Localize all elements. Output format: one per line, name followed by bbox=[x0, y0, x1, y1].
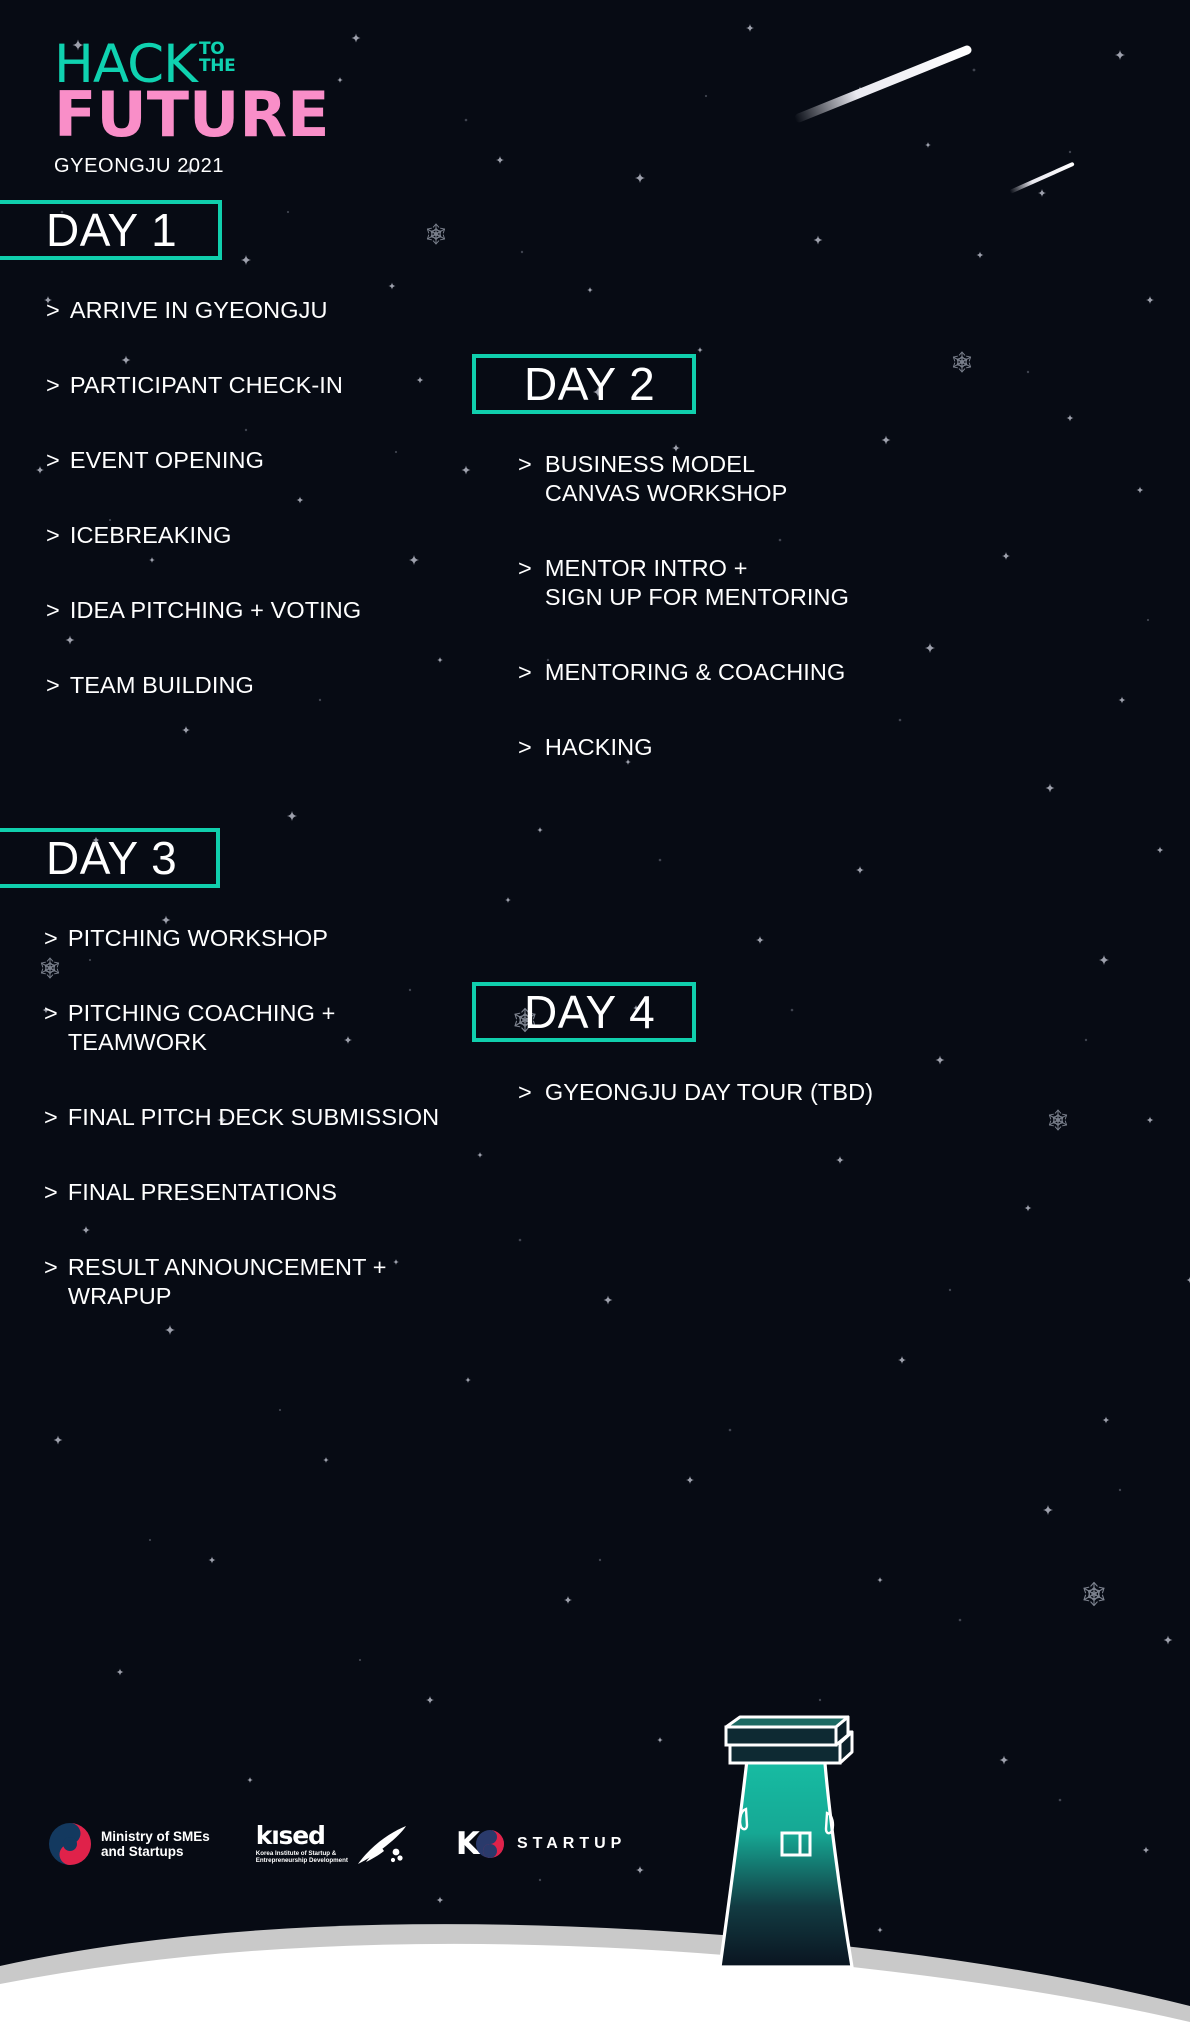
schedule-item-label: ICEBREAKING bbox=[70, 521, 232, 550]
schedule-item-label: IDEA PITCHING + VOTING bbox=[70, 596, 361, 625]
schedule-item-label: PITCHING COACHING + TEAMWORK bbox=[68, 999, 336, 1057]
schedule-item: >PITCHING WORKSHOP bbox=[44, 924, 474, 953]
snow-ground bbox=[0, 1914, 1190, 2044]
schedule-item: >HACKING bbox=[518, 733, 938, 762]
caret-icon: > bbox=[518, 554, 532, 612]
cheomseongdae-tower-illustration bbox=[700, 1715, 910, 2015]
kised-sub-line2: Entrepreneurship Development bbox=[256, 1857, 348, 1864]
schedule-item: >TEAM BUILDING bbox=[46, 671, 466, 700]
schedule-item-label: FINAL PRESENTATIONS bbox=[68, 1178, 337, 1207]
kised-text-block: kısed Korea Institute of Startup & Entre… bbox=[256, 1824, 348, 1865]
schedule-item-label: EVENT OPENING bbox=[70, 446, 264, 475]
event-logo: HACK TO THE FUTURE GYEONGJU 2021 bbox=[54, 40, 329, 178]
caret-icon: > bbox=[518, 450, 532, 508]
caret-icon: > bbox=[44, 999, 58, 1057]
ministry-label: Ministry of SMEs and Startups bbox=[101, 1829, 210, 1860]
logo-city-year-text: GYEONGJU 2021 bbox=[54, 155, 329, 178]
schedule-item: >MENTOR INTRO + SIGN UP FOR MENTORING bbox=[518, 554, 938, 612]
logo-tothe-stack: TO THE bbox=[199, 41, 236, 76]
schedule-item-label: PARTICIPANT CHECK-IN bbox=[70, 371, 343, 400]
schedule-item: >PITCHING COACHING + TEAMWORK bbox=[44, 999, 474, 1057]
caret-icon: > bbox=[46, 671, 60, 700]
k-startup-wordmark: STARTUP bbox=[517, 1835, 626, 1853]
schedule-item: >MENTORING & COACHING bbox=[518, 658, 938, 687]
caret-icon: > bbox=[44, 1103, 58, 1132]
caret-icon: > bbox=[44, 924, 58, 953]
day-1-header: DAY 1 bbox=[0, 200, 222, 260]
day-4-schedule-list: >GYEONGJU DAY TOUR (TBD) bbox=[518, 1078, 938, 1107]
k-startup-logo: K STARTUP bbox=[456, 1829, 626, 1859]
schedule-item: >ICEBREAKING bbox=[46, 521, 466, 550]
kised-wordmark: kısed bbox=[256, 1824, 348, 1848]
kised-subtitle: Korea Institute of Startup & Entrepreneu… bbox=[256, 1850, 348, 1865]
schedule-item: >BUSINESS MODEL CANVAS WORKSHOP bbox=[518, 450, 938, 508]
schedule-item-label: BUSINESS MODEL CANVAS WORKSHOP bbox=[545, 450, 788, 508]
schedule-item: >GYEONGJU DAY TOUR (TBD) bbox=[518, 1078, 938, 1107]
day-2-header: DAY 2 bbox=[472, 354, 696, 414]
schedule-item: >EVENT OPENING bbox=[46, 446, 466, 475]
schedule-item-label: MENTOR INTRO + SIGN UP FOR MENTORING bbox=[545, 554, 849, 612]
kised-logo: kısed Korea Institute of Startup & Entre… bbox=[256, 1824, 410, 1865]
k-startup-taegeuk-icon bbox=[475, 1829, 505, 1859]
logo-the-text: THE bbox=[199, 56, 236, 76]
schedule-item-label: RESULT ANNOUNCEMENT + WRAPUP bbox=[68, 1253, 387, 1311]
day-1-schedule-list: >ARRIVE IN GYEONGJU >PARTICIPANT CHECK-I… bbox=[46, 296, 466, 700]
caret-icon: > bbox=[46, 446, 60, 475]
schedule-item-label: GYEONGJU DAY TOUR (TBD) bbox=[545, 1078, 873, 1107]
day-3-header: DAY 3 bbox=[0, 828, 220, 888]
kised-wing-icon bbox=[352, 1824, 410, 1866]
ministry-line1: Ministry of SMEs bbox=[101, 1829, 210, 1844]
shooting-star-small-icon bbox=[1009, 162, 1075, 194]
logo-future-text: FUTURE bbox=[54, 86, 329, 145]
schedule-item-label: PITCHING WORKSHOP bbox=[68, 924, 328, 953]
schedule-item-label: MENTORING & COACHING bbox=[545, 658, 846, 687]
ministry-of-smes-logo: Ministry of SMEs and Startups bbox=[48, 1822, 210, 1866]
schedule-item-label: TEAM BUILDING bbox=[70, 671, 254, 700]
caret-icon: > bbox=[518, 658, 532, 687]
schedule-item: >FINAL PRESENTATIONS bbox=[44, 1178, 474, 1207]
schedule-item-label: FINAL PITCH DECK SUBMISSION bbox=[68, 1103, 439, 1132]
schedule-item-label: HACKING bbox=[545, 733, 653, 762]
ministry-line2: and Startups bbox=[101, 1844, 184, 1859]
caret-icon: > bbox=[518, 733, 532, 762]
schedule-item: >IDEA PITCHING + VOTING bbox=[46, 596, 466, 625]
schedule-item: >ARRIVE IN GYEONGJU bbox=[46, 296, 466, 325]
day-4-header: DAY 4 bbox=[472, 982, 696, 1042]
day-2-schedule-list: >BUSINESS MODEL CANVAS WORKSHOP >MENTOR … bbox=[518, 450, 938, 762]
caret-icon: > bbox=[46, 596, 60, 625]
kised-sub-line1: Korea Institute of Startup & bbox=[256, 1850, 336, 1857]
day-3-schedule-list: >PITCHING WORKSHOP >PITCHING COACHING + … bbox=[44, 924, 474, 1311]
caret-icon: > bbox=[46, 296, 60, 325]
schedule-item: >FINAL PITCH DECK SUBMISSION bbox=[44, 1103, 474, 1132]
taegeuk-icon bbox=[48, 1822, 92, 1866]
caret-icon: > bbox=[44, 1178, 58, 1207]
caret-icon: > bbox=[44, 1253, 58, 1311]
caret-icon: > bbox=[46, 521, 60, 550]
schedule-item: >RESULT ANNOUNCEMENT + WRAPUP bbox=[44, 1253, 474, 1311]
caret-icon: > bbox=[46, 371, 60, 400]
caret-icon: > bbox=[518, 1078, 532, 1107]
schedule-item: >PARTICIPANT CHECK-IN bbox=[46, 371, 466, 400]
sponsor-logos: Ministry of SMEs and Startups kısed Kore… bbox=[48, 1822, 626, 1866]
shooting-star-large-icon bbox=[793, 44, 973, 124]
schedule-item-label: ARRIVE IN GYEONGJU bbox=[70, 296, 328, 325]
